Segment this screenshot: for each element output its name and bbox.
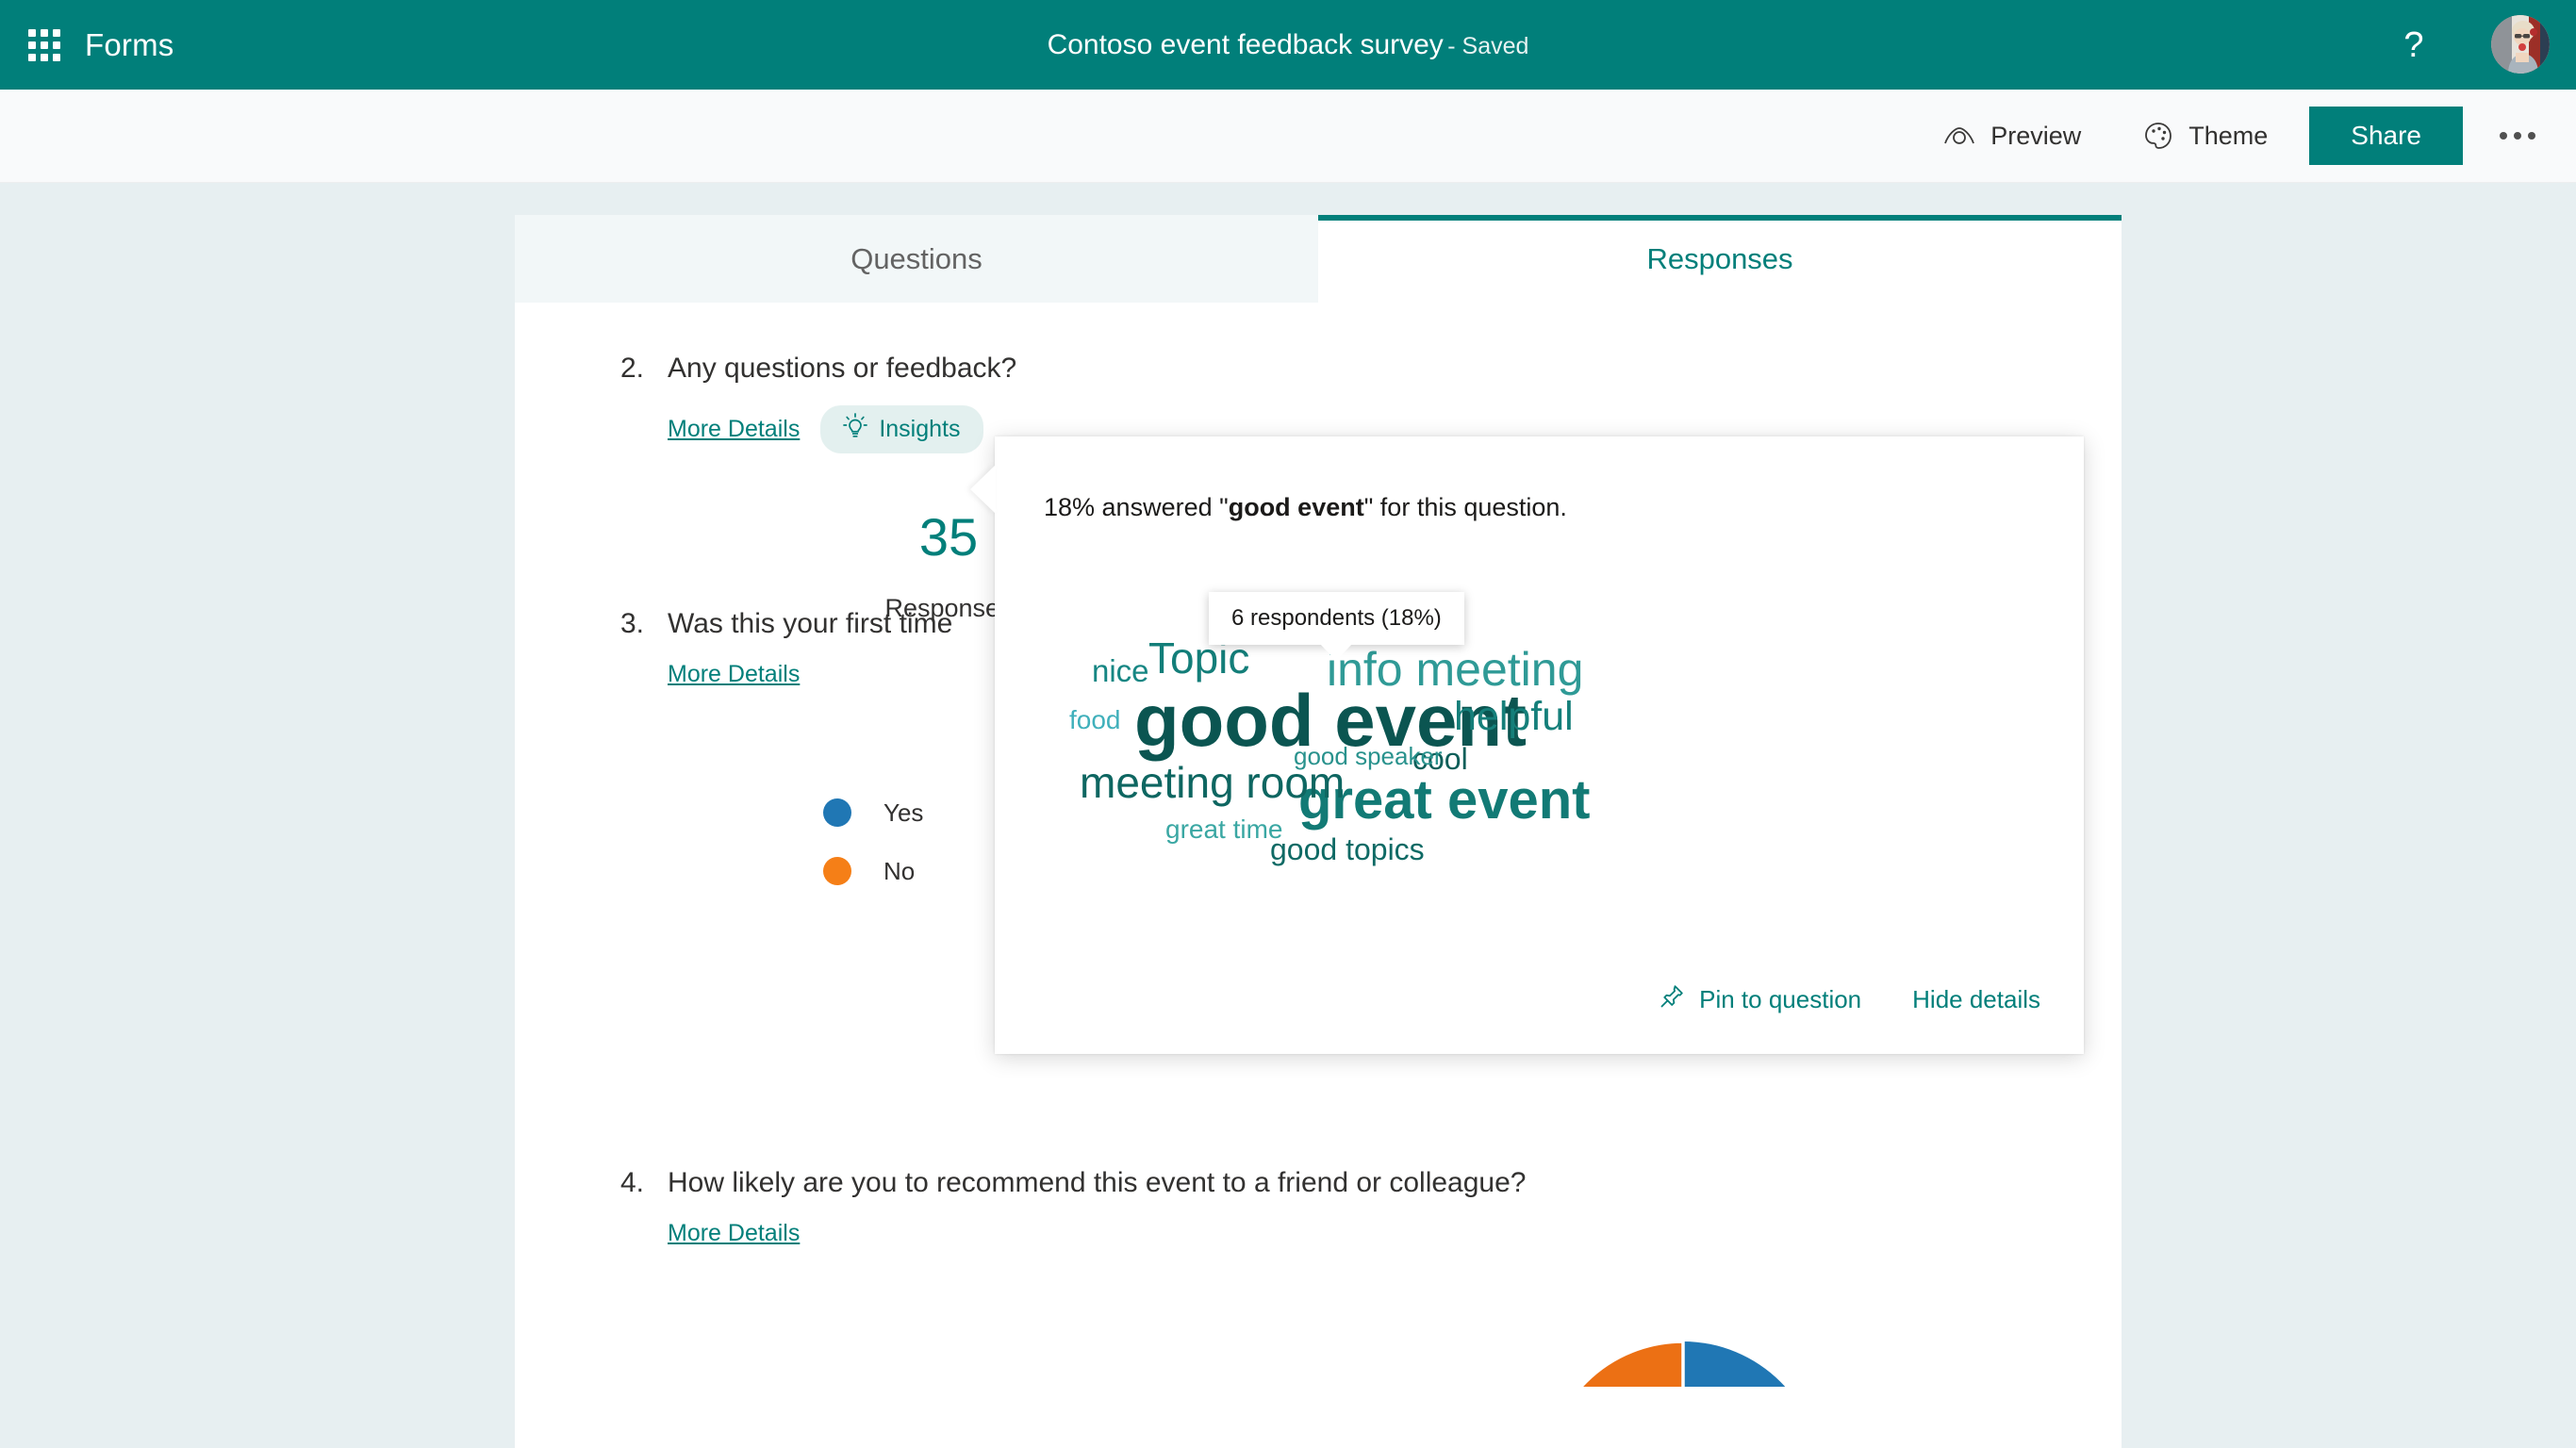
legend-label-yes: Yes [883,798,923,828]
palette-icon [2143,121,2173,151]
headline-bold-word: good event [1229,493,1364,521]
avatar-image [2491,15,2550,74]
word-cloud-item[interactable]: info meeting [1327,646,1583,693]
question-4-pie-chart [1545,1341,1821,1387]
question-4-text: How likely are you to recommend this eve… [668,1167,1526,1199]
lightbulb-icon [843,413,867,446]
app-launcher-icon[interactable] [28,29,60,61]
pie-svg-4 [1545,1341,1821,1387]
theme-label: Theme [2188,122,2268,151]
question-3-number: 3. [620,608,654,640]
share-button[interactable]: Share [2309,107,2463,165]
more-details-link-3[interactable]: More Details [668,661,800,688]
help-icon[interactable]: ? [2389,21,2438,70]
insights-button[interactable]: Insights [820,405,983,453]
question-2-text: Any questions or feedback? [668,353,1016,385]
word-cloud-item[interactable]: helpful [1454,697,1574,737]
tab-questions[interactable]: Questions [515,215,1318,303]
legend-row-yes: Yes [823,783,923,842]
insights-headline: 18% answered "good event" for this quest… [1044,493,1567,522]
preview-button[interactable]: Preview [1923,109,2102,162]
legend-row-no: No 32 [823,842,923,900]
app-header: Forms Contoso event feedback survey - Sa… [0,0,2576,90]
pin-to-question-label: Pin to question [1699,985,1861,1014]
avatar[interactable] [2491,15,2550,74]
app-brand-label[interactable]: Forms [85,27,174,63]
eye-icon [1943,124,1975,147]
word-cloud-tooltip: 6 respondents (18%) [1209,592,1464,645]
word-cloud-item[interactable]: food [1069,707,1121,733]
preview-label: Preview [1990,122,2081,151]
tab-strip: Questions Responses [515,215,2122,303]
word-cloud: good event great event meeting room info… [995,535,2084,930]
theme-button[interactable]: Theme [2122,109,2288,162]
pin-icon [1659,983,1685,1016]
tab-questions-label: Questions [850,242,983,276]
question-block-4: 4. How likely are you to recommend this … [515,1167,2122,1247]
insights-popup: 18% answered "good event" for this quest… [995,436,2084,1054]
page-title: Contoso event feedback survey [1048,29,1444,60]
popup-beak [970,465,996,514]
question-3-legend: Yes No 32 [823,783,923,900]
pin-to-question-button[interactable]: Pin to question [1659,983,1861,1016]
help-glyph: ? [2403,25,2423,66]
legend-dot-no [823,857,851,885]
tab-responses[interactable]: Responses [1318,215,2122,303]
word-cloud-item[interactable]: good speaker [1294,744,1443,768]
question-4-title: 4. How likely are you to recommend this … [515,1167,2122,1199]
tab-responses-label: Responses [1646,242,1792,276]
question-4-actions: More Details [515,1220,2122,1247]
more-options-icon[interactable] [2489,107,2546,164]
save-status: - Saved [1447,33,1528,59]
insights-popup-actions: Pin to question Hide details [1659,983,2040,1016]
more-details-link-2[interactable]: More Details [668,416,800,443]
command-bar: Preview Theme Share [0,90,2576,183]
legend-dot-yes [823,798,851,827]
headline-suffix: " for this question. [1364,493,1567,521]
more-details-link-4[interactable]: More Details [668,1220,800,1247]
insights-label: Insights [879,416,960,443]
question-4-number: 4. [620,1167,654,1199]
question-2-number: 2. [620,353,654,385]
document-title-area: Contoso event feedback survey - Saved [0,29,2576,61]
hide-details-label: Hide details [1912,985,2040,1014]
hide-details-button[interactable]: Hide details [1912,985,2040,1014]
headline-prefix: 18% answered " [1044,493,1229,521]
word-cloud-item[interactable]: great time [1165,816,1283,843]
word-cloud-item[interactable]: good topics [1270,834,1425,864]
question-3-text: Was this your first time [668,608,952,640]
legend-label-no: No [883,857,915,886]
word-cloud-item[interactable]: nice [1092,655,1149,686]
question-2-title: 2. Any questions or feedback? [515,353,2122,385]
